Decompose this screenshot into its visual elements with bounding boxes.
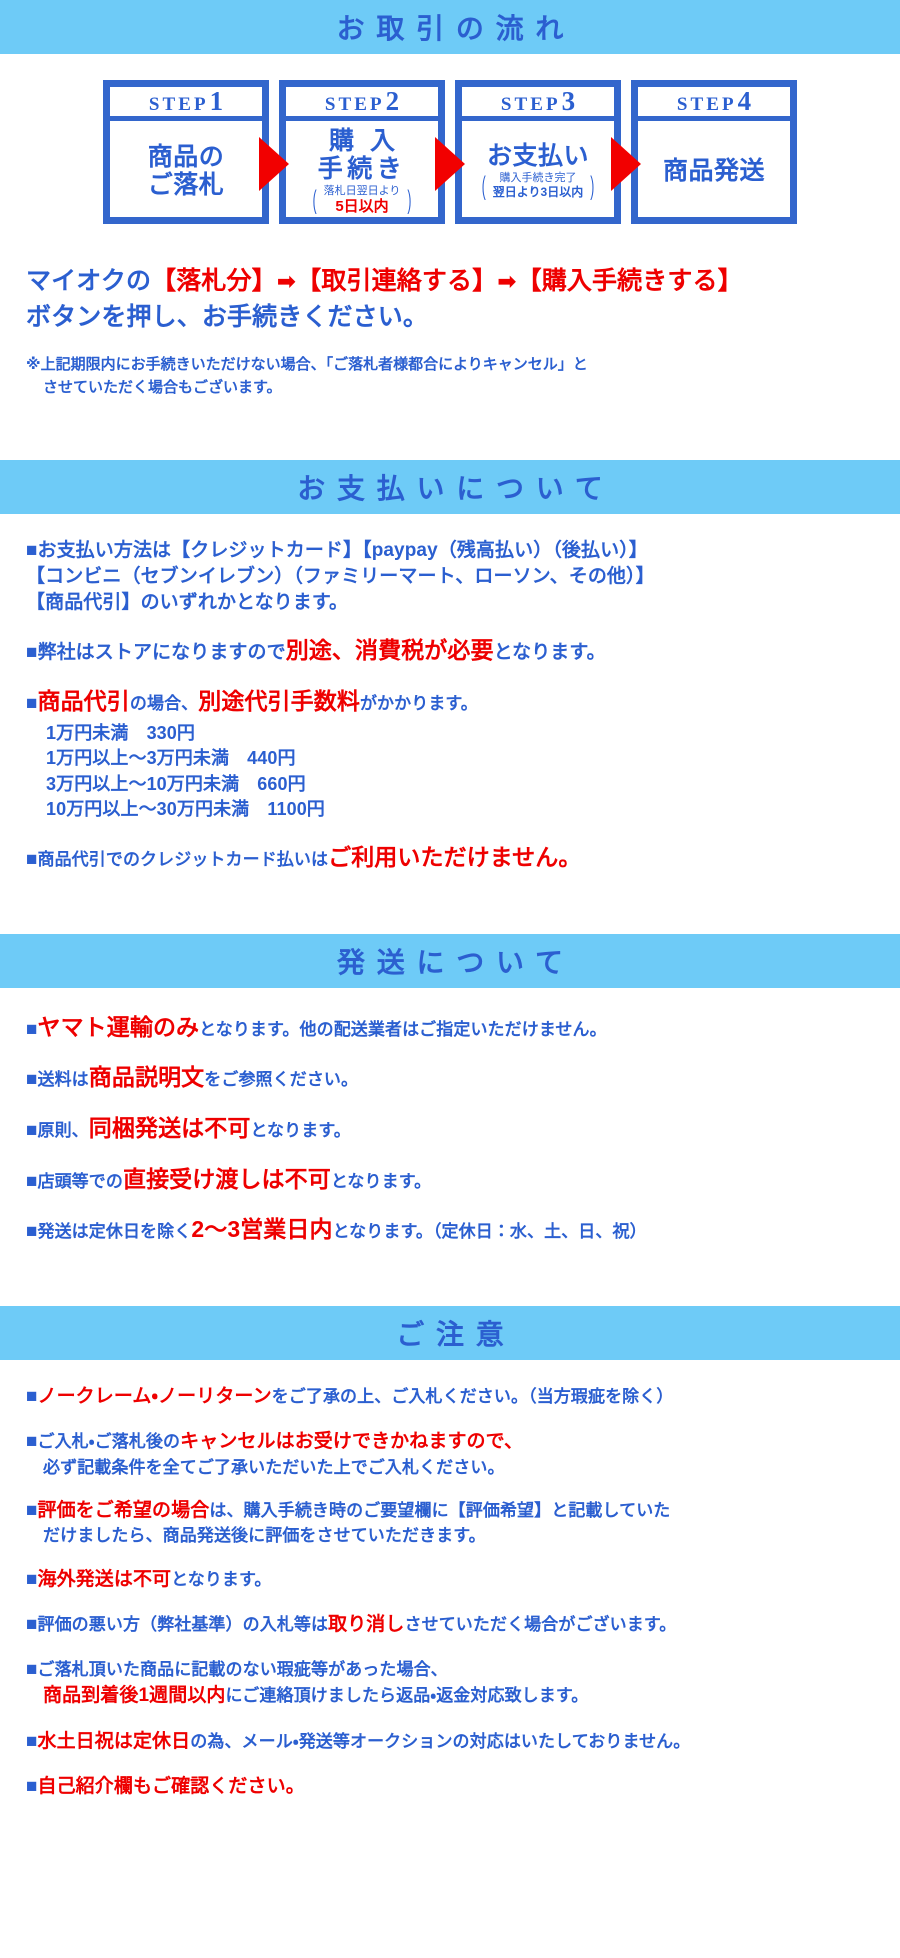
bullet-square-icon: ■	[26, 1731, 37, 1752]
step-body-2: 購 入 手続き ( 落札日翌日より 5日以内 )	[286, 121, 438, 219]
caution-no-cancel-sub: 必ず記載条件を全てご了承いただいた上でご入札ください。	[26, 1456, 900, 1479]
payment-no-credit-red: ご利用いただけません。	[328, 844, 581, 870]
shipping-item-pickup: ■店頭等での直接受け渡しは不可となります。	[26, 1164, 900, 1196]
flow-note: ※上記期限内にお手続きいただけない場合、「ご落札者様都合によりキャンセル」と さ…	[26, 353, 900, 400]
shipping-pickup-red: 直接受け渡しは不可	[123, 1166, 331, 1192]
shipping-leadtime-pre: 発送は定休日を除く	[37, 1222, 191, 1241]
step-label-text-4: STEP	[677, 94, 737, 116]
step-label-2: STEP2	[325, 88, 399, 116]
caution-rating-sub: だけましたら、商品発送後に評価をさせていただきます。	[26, 1524, 900, 1547]
flow-arrow-icon-2	[435, 137, 465, 191]
paren-left-2: (	[313, 185, 317, 215]
step-label-text-3: STEP	[501, 94, 561, 116]
payment-item-cod-no-credit: ■商品代引でのクレジットカード払いはご利用いただけません。	[26, 842, 900, 874]
step-subnote-line2-2: 5日以内	[324, 198, 401, 216]
shipping-fee-pre: 送料は	[37, 1070, 88, 1089]
step-subnote-2: ( 落札日翌日より 5日以内 )	[312, 185, 413, 216]
step-number-2: 2	[386, 88, 400, 115]
shipping-pickup-pre: 店頭等での	[37, 1172, 122, 1191]
caution-no-claim-post: をご了承の上、ご入札ください。（当方瑕疵を除く）	[272, 1387, 674, 1406]
flow-arrow-icon-1	[259, 137, 289, 191]
shipping-item-carrier: ■ヤマト運輸のみとなります。他の配送業者はご指定いただけません。	[26, 1012, 900, 1044]
payment-cod-red2: 別途代引手数料	[198, 688, 360, 714]
payment-tax-pre: 弊社はストアになりますので	[37, 642, 285, 663]
payment-item-methods: ■お支払い方法は【クレジットカード】【paypay（残高払い）（後払い）】 【コ…	[26, 538, 900, 617]
flow-lead-red3: 【購入手続きする】	[517, 267, 743, 295]
step-header-2: STEP2	[286, 87, 438, 121]
bullet-square-icon: ■	[26, 849, 37, 870]
step-label-1: STEP1	[149, 88, 223, 116]
payment-item-tax: ■弊社はストアになりますので別途、消費税が必要となります。	[26, 635, 900, 667]
bullet-square-icon: ■	[26, 1069, 37, 1090]
caution-overseas-red: 海外発送は不可	[37, 1569, 171, 1590]
step-number-4: 4	[738, 88, 752, 115]
step-box-3: STEP3 お支払い ( 購入手続き完了 翌日より3日以内 )	[455, 80, 621, 224]
caution-profile-red: 自己紹介欄もご確認ください。	[37, 1776, 304, 1797]
caution-closed-days-red: 水土日祝は定休日	[37, 1731, 190, 1752]
step-header-4: STEP4	[638, 87, 790, 121]
banner-title-caution: ご注意	[384, 1313, 515, 1353]
bullet-square-icon: ■	[26, 1500, 37, 1521]
step-label-text-2: STEP	[325, 94, 385, 116]
bullet-square-icon: ■	[26, 1776, 37, 1797]
shipping-leadtime-red: 2～3営業日内	[191, 1216, 332, 1242]
payment-methods-line1: ■お支払い方法は【クレジットカード】【paypay（残高払い）（後払い）】	[26, 538, 900, 564]
paren-right-2: )	[407, 185, 411, 215]
caution-defect-sub-post: にご連絡頂けましたら返品・返金対応致します。	[226, 1686, 589, 1705]
payment-tax-post: となります。	[494, 642, 606, 663]
bullet-square-icon: ■	[26, 1659, 37, 1680]
step-title-3: お支払い	[487, 142, 589, 170]
payment-cod-fee-table: 1万円未満 330円 1万円以上～3万円未満 440円 3万円以上～10万円未満…	[26, 721, 900, 823]
shipping-carrier-red: ヤマト運輸のみ	[37, 1014, 199, 1040]
bullet-square-icon: ■	[26, 1171, 37, 1192]
step-body-3: お支払い ( 購入手続き完了 翌日より3日以内 )	[462, 121, 614, 219]
caution-bad-rating-post: させていただく場合がございます。	[405, 1615, 677, 1634]
flow-lead-line2: ボタンを押し、お手続きください。	[26, 300, 900, 336]
caution-item-no-overseas: ■海外発送は不可となります。	[26, 1567, 900, 1593]
caution-defect-sub: 商品到着後1週間以内にご連絡頂けましたら返品・返金対応致します。	[26, 1683, 900, 1709]
step-body-4: 商品発送	[638, 121, 790, 219]
caution-item-no-claim: ■ノークレーム・ノーリターンをご了承の上、ご入札ください。（当方瑕疵を除く）	[26, 1384, 900, 1410]
shipping-fee-red: 商品説明文	[89, 1064, 204, 1090]
payment-item-cod-fee: ■商品代引の場合、別途代引手数料がかかります。 1万円未満 330円 1万円以上…	[26, 686, 900, 823]
flow-lead-part1: マイオクの	[26, 267, 151, 295]
payment-tax-red: 別途、消費税が必要	[286, 637, 494, 663]
caution-defect-sub-red: 商品到着後1週間以内	[43, 1685, 226, 1706]
caution-item-list: ■ノークレーム・ノーリターンをご了承の上、ご入札ください。（当方瑕疵を除く） ■…	[0, 1384, 900, 1800]
payment-cod-red1: 商品代引	[37, 688, 129, 714]
flow-arrow-icon-3	[611, 137, 641, 191]
step-header-1: STEP1	[110, 87, 262, 121]
bullet-square-icon: ■	[26, 1221, 37, 1242]
shipping-carrier-post: となります。他の配送業者はご指定いただけません。	[199, 1020, 607, 1039]
bullet-square-icon: ■	[26, 1569, 37, 1590]
flow-lead-red2: 【取引連絡する】	[296, 267, 497, 295]
caution-bad-rating-red: 取り消し	[328, 1614, 404, 1635]
payment-cod-mid: の場合、	[130, 694, 198, 713]
section-banner-flow: お取引の流れ	[0, 0, 900, 54]
flow-lead-line1: マイオクの【落札分】➡【取引連絡する】➡【購入手続きする】	[26, 264, 900, 300]
payment-cod-fee-row: 1万円未満 330円	[46, 721, 900, 747]
step-subnote-line1-3: 購入手続き完了	[493, 172, 583, 185]
flow-lead-red1: 【落札分】	[151, 267, 277, 295]
bullet-square-icon: ■	[26, 1120, 37, 1141]
flow-lead-arrow-icon-2: ➡	[497, 268, 516, 294]
shipping-leadtime-post: となります。（定休日：水、土、日、祝）	[333, 1222, 647, 1241]
shipping-item-leadtime: ■発送は定休日を除く2～3営業日内となります。（定休日：水、土、日、祝）	[26, 1214, 900, 1246]
bullet-square-icon: ■	[26, 1019, 37, 1040]
shipping-item-combined: ■原則、同梱発送は不可となります。	[26, 1113, 900, 1145]
shipping-item-fee: ■送料は商品説明文をご参照ください。	[26, 1062, 900, 1094]
payment-cod-fee-row: 3万円以上～10万円未満 660円	[46, 772, 900, 798]
payment-methods-line2: 【コンビニ（セブンイレブン）（ファミリーマート、ローソン、その他）】	[26, 564, 900, 590]
shipping-fee-post: をご参照ください。	[204, 1070, 358, 1089]
step-title-1: 商品の ご落札	[148, 143, 225, 199]
caution-defect-pre: ご落札頂いた商品に記載のない瑕疵等があった場合、	[37, 1660, 447, 1679]
step-number-1: 1	[210, 88, 224, 115]
bullet-square-icon: ■	[26, 540, 37, 561]
caution-no-cancel-red: キャンセルはお受けできかねますので、	[180, 1431, 523, 1452]
section-banner-caution: ご注意	[0, 1306, 900, 1360]
step-box-4: STEP4 商品発送	[631, 80, 797, 224]
section-banner-payment: お支払いについて	[0, 460, 900, 514]
payment-cod-fee-row: 10万円以上～30万円未満 1100円	[46, 797, 900, 823]
bullet-square-icon: ■	[26, 1386, 37, 1407]
flow-lead-paragraph: マイオクの【落札分】➡【取引連絡する】➡【購入手続きする】 ボタンを押し、お手続…	[26, 264, 900, 335]
flow-note-line2: させていただく場合もございます。	[26, 376, 900, 399]
flow-lead-arrow-icon-1: ➡	[277, 268, 296, 294]
caution-bad-rating-pre: 評価の悪い方（弊社基準）の入札等は	[37, 1615, 328, 1634]
payment-item-list: ■お支払い方法は【クレジットカード】【paypay（残高払い）（後払い）】 【コ…	[0, 538, 900, 874]
caution-overseas-post: となります。	[171, 1570, 271, 1589]
step-box-1: STEP1 商品の ご落札	[103, 80, 269, 224]
shipping-item-list: ■ヤマト運輸のみとなります。他の配送業者はご指定いただけません。 ■送料は商品説…	[0, 1012, 900, 1247]
payment-no-credit-pre: 商品代引でのクレジットカード払いは	[37, 850, 328, 869]
step-label-4: STEP4	[677, 88, 751, 116]
step-label-3: STEP3	[501, 88, 575, 116]
step-title-4: 商品発送	[663, 157, 765, 185]
shipping-combined-post: となります。	[250, 1121, 350, 1140]
caution-item-rating-request: ■評価をご希望の場合は、購入手続き時のご要望欄に【評価希望】と記載していた だけ…	[26, 1498, 900, 1548]
caution-rating-post: は、購入手続き時のご要望欄に【評価希望】と記載していた	[209, 1501, 670, 1520]
caution-item-defect-return: ■ご落札頂いた商品に記載のない瑕疵等があった場合、 商品到着後1週間以内にご連絡…	[26, 1657, 900, 1709]
step-subnote-line1-2: 落札日翌日より	[324, 185, 401, 198]
payment-cod-post: がかかります。	[360, 694, 478, 713]
step-box-2: STEP2 購 入 手続き ( 落札日翌日より 5日以内 )	[279, 80, 445, 224]
bullet-square-icon: ■	[26, 1431, 37, 1452]
caution-no-claim-red: ノークレーム・ノーリターン	[37, 1386, 271, 1407]
step-number-3: 3	[562, 88, 576, 115]
banner-title-flow: お取引の流れ	[325, 7, 575, 47]
step-body-1: 商品の ご落札	[110, 121, 262, 219]
bullet-square-icon: ■	[26, 693, 37, 714]
payment-methods-line3: 【商品代引】のいずれかとなります。	[26, 590, 900, 616]
payment-cod-fee-row: 1万円以上～3万円未満 440円	[46, 746, 900, 772]
step-subnote-3: ( 購入手続き完了 翌日より3日以内 )	[481, 172, 595, 199]
section-banner-shipping: 発送について	[0, 934, 900, 988]
step-title-2: 購 入 手続き	[318, 127, 407, 183]
paren-left-3: (	[482, 171, 486, 201]
bullet-square-icon: ■	[26, 642, 37, 663]
shipping-combined-pre: 原則、	[37, 1121, 88, 1140]
caution-item-bad-rating: ■評価の悪い方（弊社基準）の入札等は取り消しさせていただく場合がございます。	[26, 1612, 900, 1638]
caution-closed-days-post: の為、メール・発送等オークションの対応はいたしておりません。	[190, 1732, 690, 1751]
payment-methods-text1: お支払い方法は【クレジットカード】【paypay（残高払い）（後払い）】	[37, 540, 647, 561]
step-label-text-1: STEP	[149, 94, 209, 116]
banner-title-payment: お支払いについて	[286, 467, 615, 507]
flow-note-line1: ※上記期限内にお手続きいただけない場合、「ご落札者様都合によりキャンセル」と	[26, 353, 900, 376]
caution-no-cancel-pre: ご入札・ご落札後の	[37, 1432, 180, 1451]
shipping-pickup-post: となります。	[331, 1172, 431, 1191]
paren-right-3: )	[590, 171, 594, 201]
shipping-combined-red: 同梱発送は不可	[89, 1115, 251, 1141]
caution-rating-red: 評価をご希望の場合	[37, 1500, 209, 1521]
caution-item-closed-days: ■水土日祝は定休日の為、メール・発送等オークションの対応はいたしておりません。	[26, 1729, 900, 1755]
banner-title-shipping: 発送について	[325, 941, 574, 981]
auction-terms-page: お取引の流れ STEP1 商品の ご落札 STEP2	[0, 0, 900, 1958]
caution-item-profile: ■自己紹介欄もご確認ください。	[26, 1774, 900, 1800]
step-subnote-line2-3: 翌日より3日以内	[493, 185, 583, 199]
caution-item-no-cancel: ■ご入札・ご落札後のキャンセルはお受けできかねますので、 必ず記載条件を全てご了…	[26, 1429, 900, 1479]
step-flow-diagram: STEP1 商品の ご落札 STEP2 購 入 手続き	[0, 80, 900, 240]
bullet-square-icon: ■	[26, 1614, 37, 1635]
step-header-3: STEP3	[462, 87, 614, 121]
